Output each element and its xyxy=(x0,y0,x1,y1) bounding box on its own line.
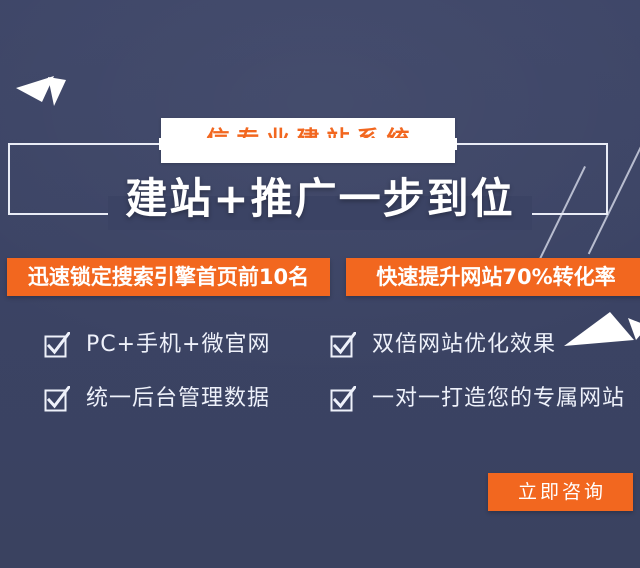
checkbox-checked-icon xyxy=(330,386,356,412)
consult-now-button[interactable]: 立即咨询 xyxy=(488,473,633,511)
checkbox-checked-icon xyxy=(44,332,70,358)
strip-rank-promise-text: 迅速锁定搜索引擎首页前10名 xyxy=(28,267,309,288)
feature-item-3: 统一后台管理数据 xyxy=(44,386,270,412)
feature-item-2: 双倍网站优化效果 xyxy=(330,332,556,358)
label-box-notch xyxy=(159,138,457,150)
feature-item-4-label: 一对一打造您的专属网站 xyxy=(372,388,625,410)
strip-rank-promise: 迅速锁定搜索引擎首页前10名 xyxy=(7,258,330,296)
checkbox-checked-icon xyxy=(44,386,70,412)
promo-banner: 信专业建站系统 建站+推广一步到位 迅速锁定搜索引擎首页前10名 快速提升网站7… xyxy=(0,0,640,568)
strip-conversion-promise-text: 快速提升网站70%转化率 xyxy=(376,267,615,288)
checkbox-checked-icon xyxy=(330,332,356,358)
feature-item-4: 一对一打造您的专属网站 xyxy=(330,386,625,412)
paper-plane-left-icon xyxy=(14,58,78,110)
feature-item-2-label: 双倍网站优化效果 xyxy=(372,334,556,356)
feature-list: PC+手机+微官网 双倍网站优化效果 统一后台管理数据 一对一打造您的专属网站 xyxy=(0,330,640,430)
strip-conversion-promise: 快速提升网站70%转化率 xyxy=(346,258,640,296)
consult-now-button-label: 立即咨询 xyxy=(515,483,606,502)
feature-item-1-label: PC+手机+微官网 xyxy=(86,334,271,356)
page-title: 建站+推广一步到位 xyxy=(0,178,640,220)
feature-item-1: PC+手机+微官网 xyxy=(44,332,271,358)
feature-item-3-label: 统一后台管理数据 xyxy=(86,388,270,410)
